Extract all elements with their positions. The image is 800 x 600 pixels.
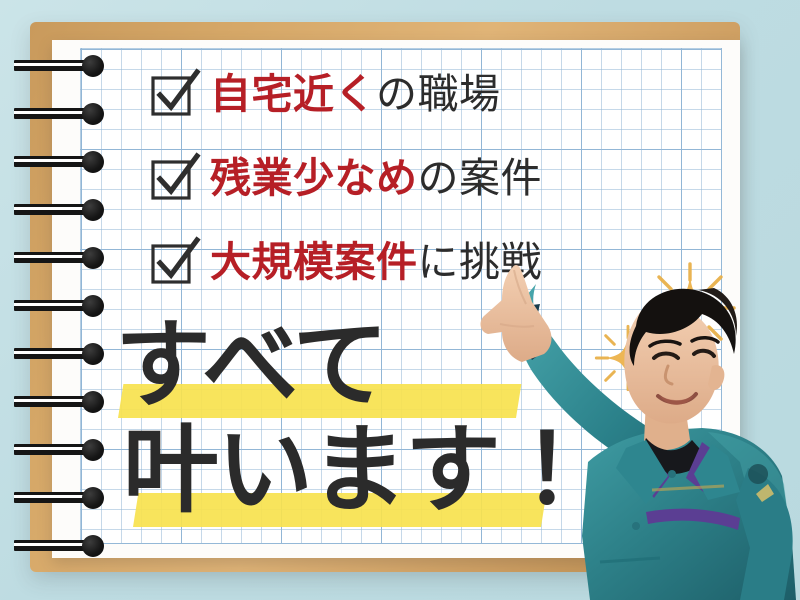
- spiral-ring-head: [82, 295, 104, 317]
- checklist-item: 残業少なめの案件: [150, 136, 670, 220]
- poster-canvas: 自宅近くの職場残業少なめの案件大規模案件に挑戦 すべて 叶います！: [0, 0, 800, 600]
- checklist-item: 自宅近くの職場: [150, 52, 670, 136]
- checklist-item-rest: の職場: [376, 71, 501, 117]
- checklist-item-highlight: 残業少なめ: [210, 155, 418, 201]
- checklist-item-rest: の案件: [418, 155, 543, 201]
- spiral-ring-icon: [14, 439, 124, 461]
- checkbox-checked-icon: [150, 158, 194, 198]
- pointing-worker-photo: [440, 262, 800, 600]
- spiral-ring-icon: [14, 247, 124, 269]
- spiral-ring-head: [82, 199, 104, 221]
- spiral-ring-head: [82, 439, 104, 461]
- spiral-ring-icon: [14, 55, 124, 77]
- spiral-ring-icon: [14, 343, 124, 365]
- spiral-ring-head: [82, 55, 104, 77]
- headline-text-1: すべて: [115, 316, 386, 417]
- spiral-ring-head: [82, 391, 104, 413]
- spiral-ring-icon: [14, 535, 124, 557]
- spiral-ring-head: [82, 535, 104, 557]
- checkbox-checked-icon: [150, 74, 194, 114]
- checklist-item-highlight: 大規模案件: [210, 239, 418, 285]
- spiral-ring-icon: [14, 295, 124, 317]
- spiral-ring-icon: [14, 487, 124, 509]
- checklist-item-text: 自宅近くの職場: [210, 74, 501, 115]
- spiral-ring-icon: [14, 103, 124, 125]
- spiral-ring-icon: [14, 391, 124, 413]
- checklist-item-highlight: 自宅近く: [210, 71, 376, 117]
- spiral-ring-head: [82, 103, 104, 125]
- spiral-ring-head: [82, 487, 104, 509]
- checklist-item-text: 残業少なめの案件: [210, 158, 542, 199]
- spiral-ring-head: [82, 247, 104, 269]
- spiral-ring-icon: [14, 151, 124, 173]
- spiral-ring-head: [82, 151, 104, 173]
- spiral-ring-head: [82, 343, 104, 365]
- spiral-ring-icon: [14, 199, 124, 221]
- checkbox-checked-icon: [150, 242, 194, 282]
